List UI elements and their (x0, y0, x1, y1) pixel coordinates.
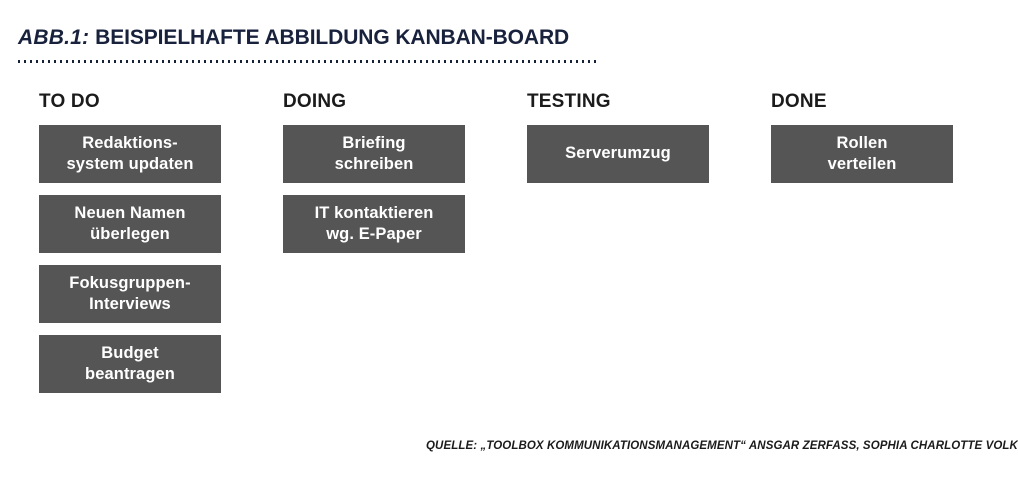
kanban-column-todo: TO DO Redaktions- system updaten Neuen N… (39, 92, 221, 405)
kanban-column-doing: DOING Briefing schreiben IT kontaktieren… (283, 92, 465, 405)
kanban-card-label: Redaktions- system updaten (66, 133, 193, 175)
page-title: ABB.1: BEISPIELHAFTE ABBILDUNG KANBAN-BO… (18, 27, 569, 48)
kanban-column-done: DONE Rollen verteilen (771, 92, 953, 405)
kanban-card[interactable]: Briefing schreiben (283, 125, 465, 183)
kanban-card-label: IT kontaktieren wg. E-Paper (315, 203, 434, 245)
column-header-doing: DOING (283, 92, 465, 111)
kanban-card[interactable]: Fokusgruppen- Interviews (39, 265, 221, 323)
kanban-card-label: Serverumzug (565, 143, 671, 164)
kanban-column-testing: TESTING Serverumzug (527, 92, 709, 405)
kanban-card-label: Briefing schreiben (335, 133, 414, 175)
kanban-card[interactable]: Budget beantragen (39, 335, 221, 393)
column-header-todo: TO DO (39, 92, 221, 111)
kanban-board: TO DO Redaktions- system updaten Neuen N… (39, 92, 979, 405)
kanban-card[interactable]: Neuen Namen überlegen (39, 195, 221, 253)
kanban-card[interactable]: Serverumzug (527, 125, 709, 183)
kanban-card-label: Rollen verteilen (828, 133, 897, 175)
dotted-divider (18, 60, 596, 63)
kanban-card-label: Fokusgruppen- Interviews (69, 273, 190, 315)
kanban-card-label: Budget beantragen (85, 343, 175, 385)
kanban-card[interactable]: Redaktions- system updaten (39, 125, 221, 183)
kanban-card-label: Neuen Namen überlegen (74, 203, 185, 245)
column-header-testing: TESTING (527, 92, 709, 111)
column-header-done: DONE (771, 92, 953, 111)
kanban-card[interactable]: IT kontaktieren wg. E-Paper (283, 195, 465, 253)
figure-caption: BEISPIELHAFTE ABBILDUNG KANBAN-BOARD (95, 26, 569, 49)
source-attribution: QUELLE: „TOOLBOX KOMMUNIKATIONSMANAGEMEN… (426, 440, 1018, 452)
kanban-card[interactable]: Rollen verteilen (771, 125, 953, 183)
figure-label: ABB.1: (18, 26, 89, 49)
